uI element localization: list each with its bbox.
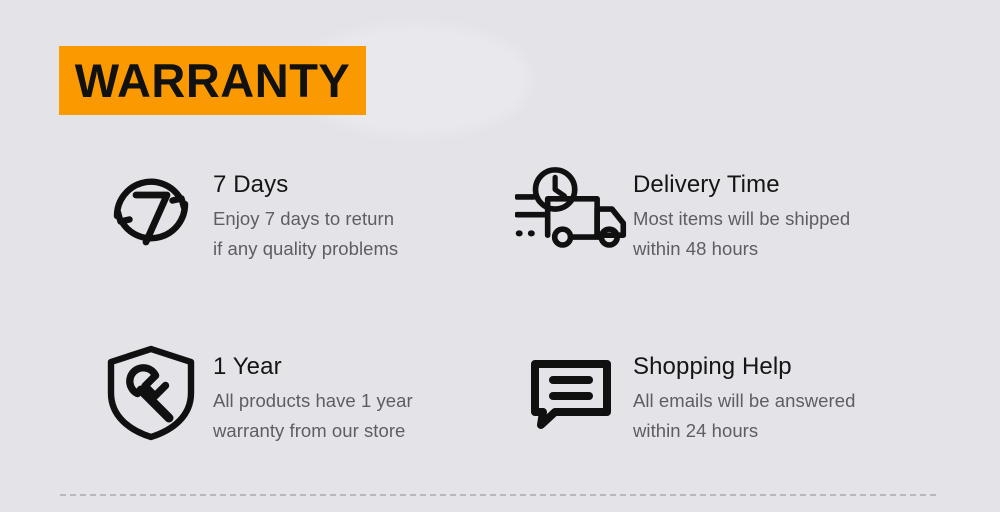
feature-line-2: within 48 hours — [633, 234, 850, 264]
chat-bubble-icon — [515, 342, 627, 442]
feature-line-1: Most items will be shipped — [633, 204, 850, 234]
warranty-title-banner: WARRANTY — [59, 46, 366, 115]
feature-title: 1 Year — [213, 354, 413, 380]
feature-item-shopping-help: Shopping Help All emails will be answere… — [515, 342, 855, 446]
feature-item-7-days: 7 Days Enjoy 7 days to return if any qua… — [95, 160, 398, 264]
feature-title: Shopping Help — [633, 354, 855, 380]
warranty-banner-page: WARRANTY 7 Days Enjoy 7 days to retu — [0, 0, 1000, 512]
page-title: WARRANTY — [75, 57, 351, 104]
feature-line-1: All products have 1 year — [213, 386, 413, 416]
feature-title: 7 Days — [213, 172, 398, 198]
delivery-truck-clock-icon — [515, 160, 627, 260]
bottom-dashed-divider — [60, 494, 936, 496]
feature-text-delivery-time: Delivery Time Most items will be shipped… — [633, 160, 850, 264]
return-arrows-7-icon — [95, 160, 207, 260]
feature-text-1-year: 1 Year All products have 1 year warranty… — [213, 342, 413, 446]
shield-wrench-icon — [95, 342, 207, 442]
feature-line-2: warranty from our store — [213, 416, 413, 446]
feature-grid: 7 Days Enjoy 7 days to return if any qua… — [0, 150, 1000, 470]
feature-line-1: Enjoy 7 days to return — [213, 204, 398, 234]
feature-item-1-year: 1 Year All products have 1 year warranty… — [95, 342, 413, 446]
feature-text-7-days: 7 Days Enjoy 7 days to return if any qua… — [213, 160, 398, 264]
feature-text-shopping-help: Shopping Help All emails will be answere… — [633, 342, 855, 446]
feature-item-delivery-time: Delivery Time Most items will be shipped… — [515, 160, 850, 264]
feature-line-2: if any quality problems — [213, 234, 398, 264]
feature-line-1: All emails will be answered — [633, 386, 855, 416]
feature-line-2: within 24 hours — [633, 416, 855, 446]
feature-title: Delivery Time — [633, 172, 850, 198]
